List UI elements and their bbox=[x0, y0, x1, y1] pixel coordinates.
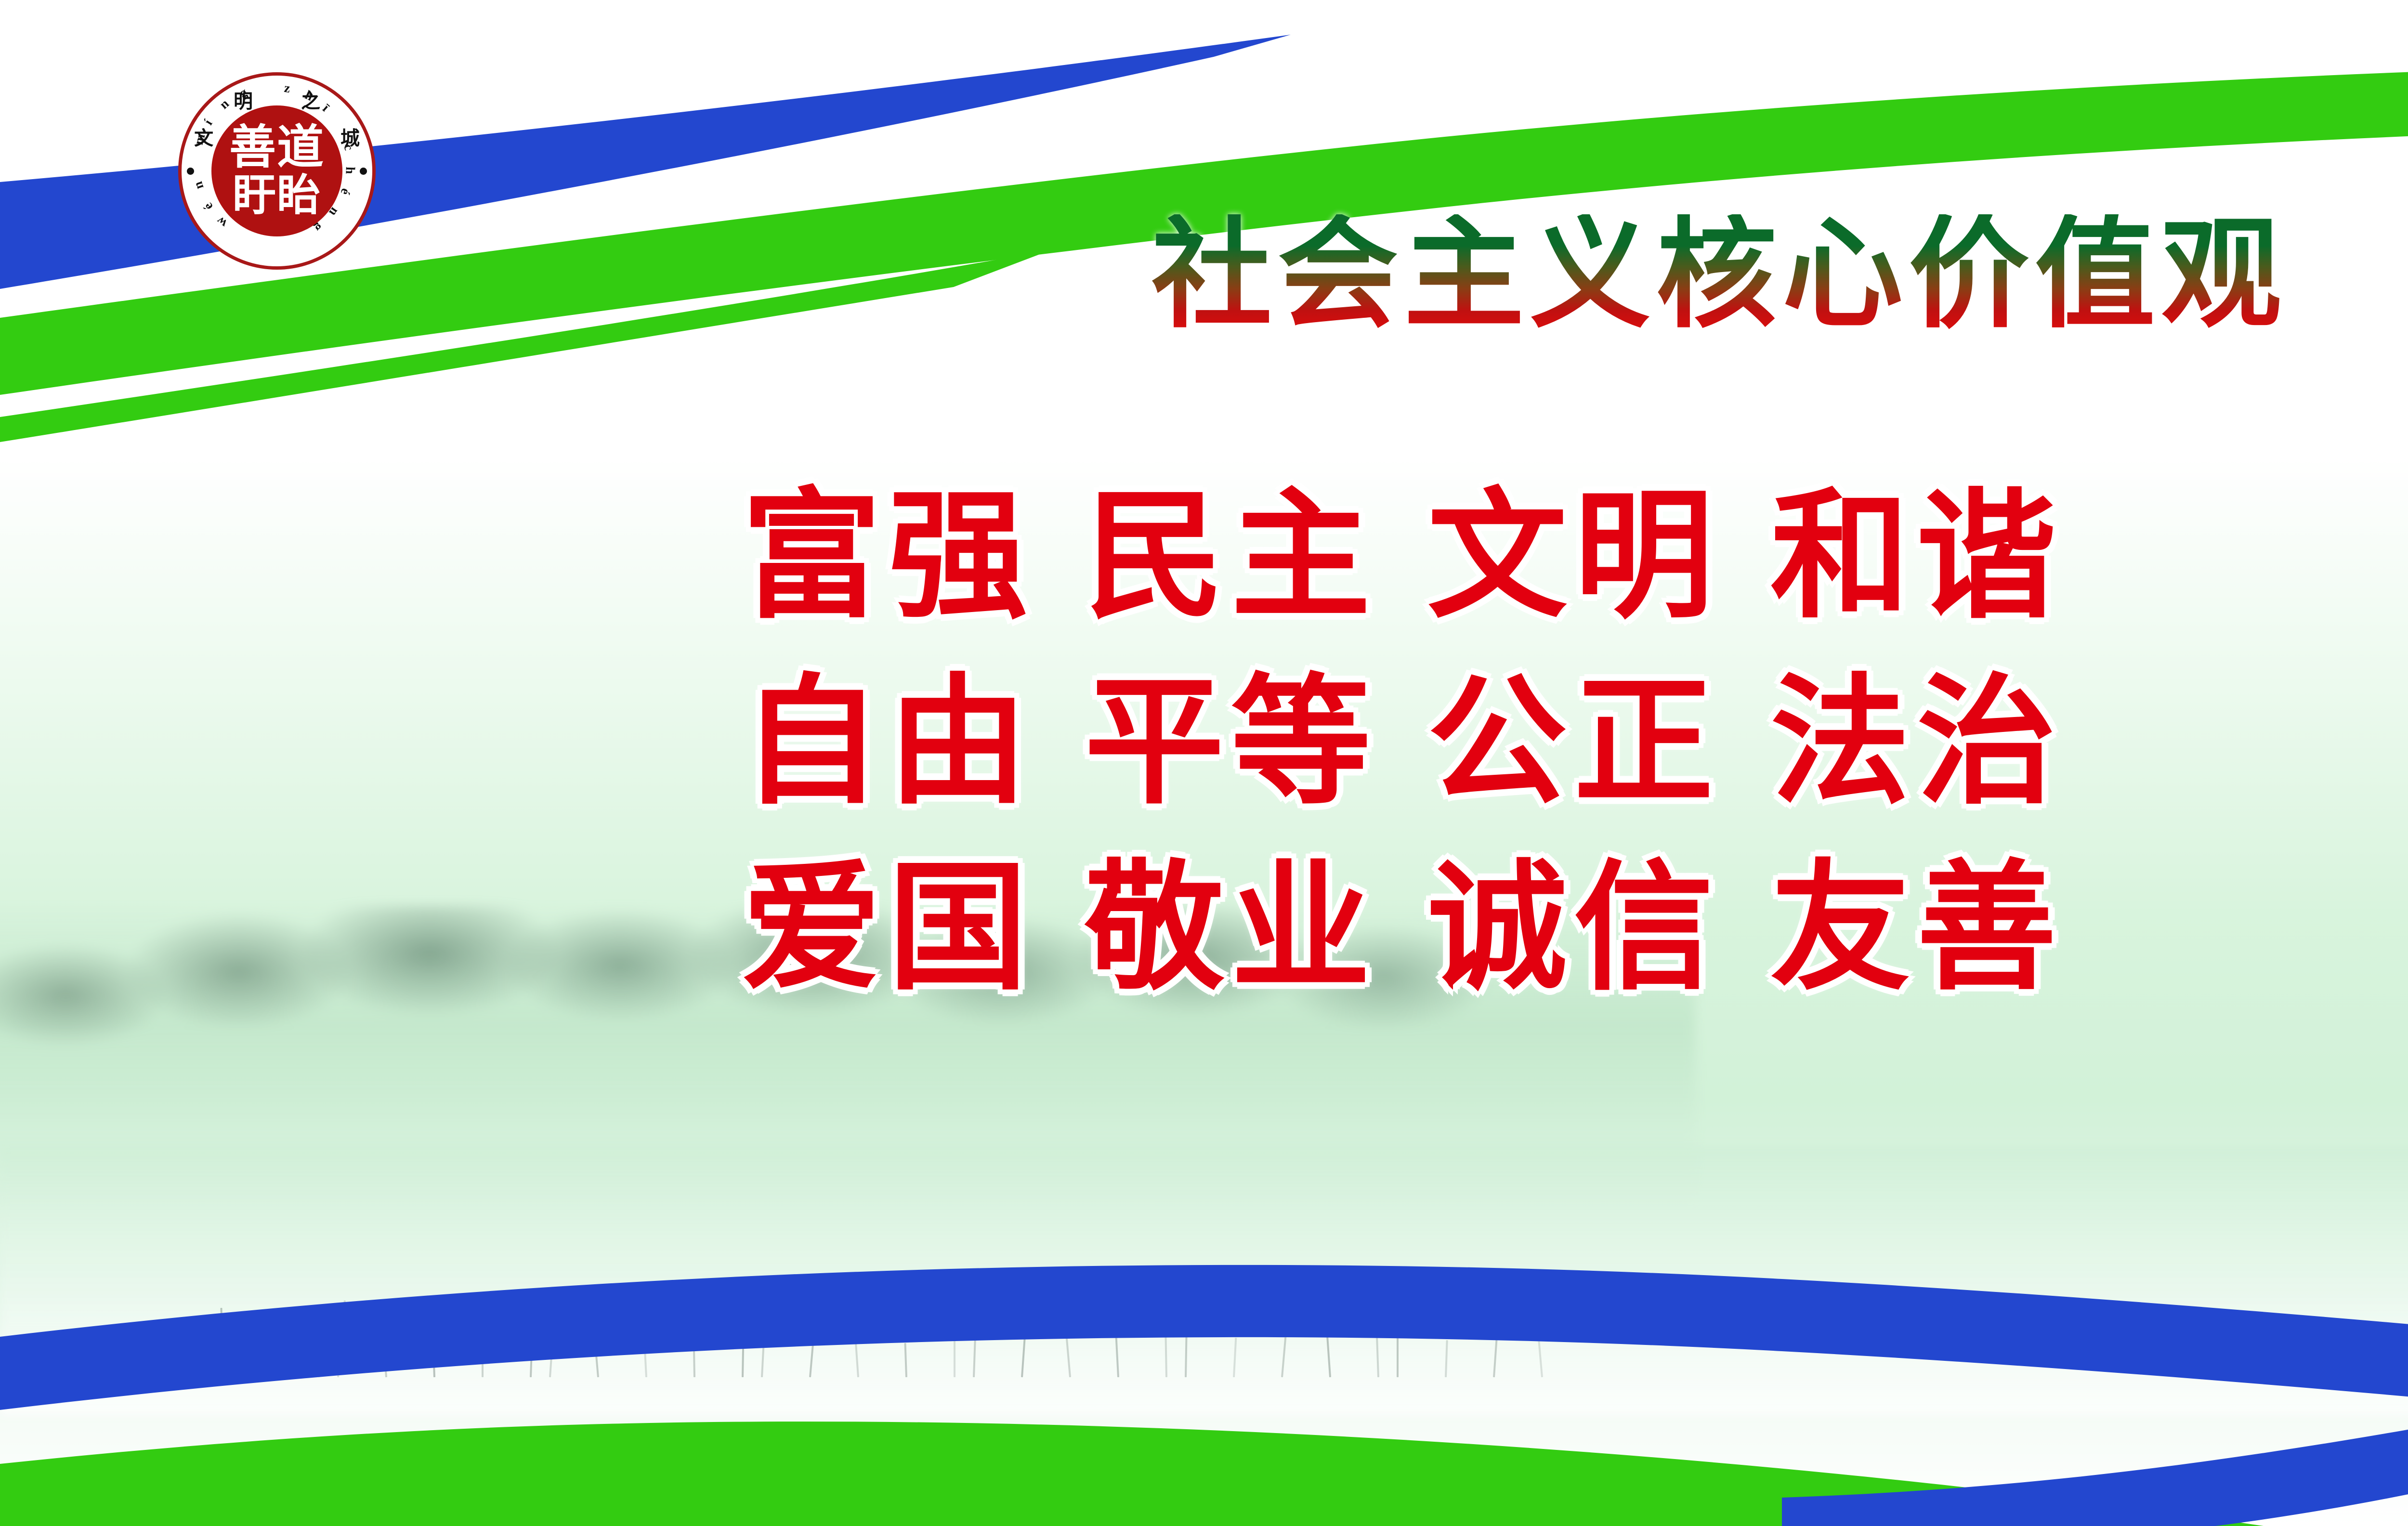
slogan-word: 和谐 bbox=[1770, 478, 2063, 634]
emblem-dot-right bbox=[360, 168, 367, 175]
slogan-line-2: 自由平等公正法治 bbox=[742, 672, 2408, 812]
slogan-word: 敬业 bbox=[1085, 850, 1377, 1006]
emblem-core: 善道 盱眙 bbox=[211, 105, 342, 236]
emblem-dot-left bbox=[187, 168, 194, 175]
city-emblem: 文 明 之 城 wénmíngzhīchéng 善道 盱眙 bbox=[178, 72, 376, 270]
page-title: 社会主义核心价值观 bbox=[848, 214, 2408, 335]
slogan-word: 爱国 bbox=[742, 850, 1034, 1006]
slogan-line-1: 富强民主文明和谐 bbox=[742, 486, 2408, 626]
slogan-word: 文明 bbox=[1427, 478, 1720, 634]
core-values-slogans: 富强民主文明和谐 自由平等公正法治 爱国敬业诚信友善 bbox=[742, 486, 2408, 998]
slogan-word: 诚信 bbox=[1427, 850, 1720, 1006]
slogan-word: 民主 bbox=[1085, 478, 1377, 634]
slogan-word: 公正 bbox=[1427, 664, 1720, 820]
slogan-word: 法治 bbox=[1770, 664, 2063, 820]
emblem-pinyin-char: h bbox=[342, 167, 357, 174]
slogan-word: 自由 bbox=[742, 664, 1034, 820]
emblem-core-line1: 善道 bbox=[229, 124, 325, 172]
slogan-line-3: 爱国敬业诚信友善 bbox=[742, 858, 2408, 998]
slogan-word: 平等 bbox=[1085, 664, 1377, 820]
slogan-word: 友善 bbox=[1770, 850, 2063, 1006]
bottom-right-blue-ribbon-lower bbox=[1782, 1035, 2408, 1526]
propaganda-board: 文 明 之 城 wénmíngzhīchéng 善道 盱眙 社会主义核心价值观 … bbox=[0, 0, 2408, 1526]
slogan-word: 富强 bbox=[742, 478, 1034, 634]
emblem-core-line2: 盱眙 bbox=[233, 174, 321, 218]
